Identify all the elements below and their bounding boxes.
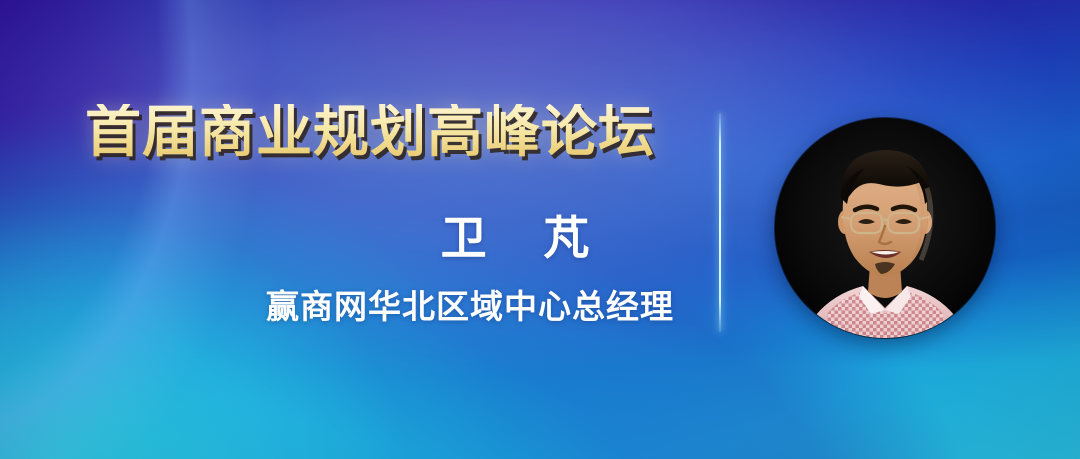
page-title: 首届商业规划高峰论坛: [85, 104, 655, 160]
portrait-illustration: [775, 118, 995, 338]
speaker-name: 卫 芃: [350, 215, 680, 261]
vertical-divider: [719, 113, 721, 332]
event-banner: 首届商业规划高峰论坛 卫 芃 赢商网华北区域中心总经理: [0, 0, 1080, 459]
speaker-role: 赢商网华北区域中心总经理: [260, 290, 680, 323]
avatar: [775, 118, 995, 338]
